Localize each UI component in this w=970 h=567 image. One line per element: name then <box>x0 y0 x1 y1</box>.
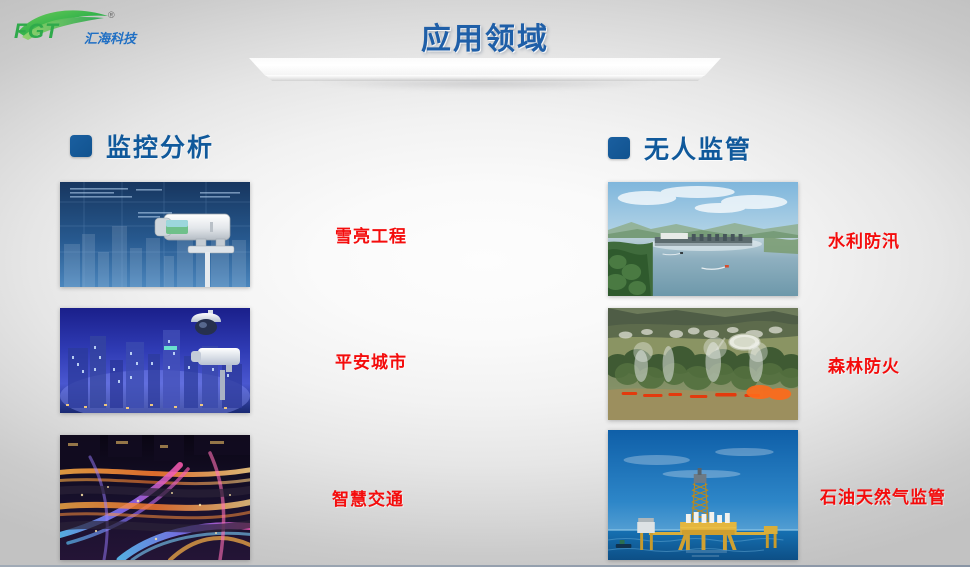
shelf-top-surface <box>249 58 721 76</box>
section-heading-monitoring-analysis: 监控分析 <box>70 128 214 164</box>
presentation-slide: FGT ® 汇海科技 应用领域 监控分析 无人监管 <box>0 0 970 567</box>
section-heading-label: 无人监管 <box>644 130 752 166</box>
application-item: 智慧交通 <box>60 435 404 560</box>
application-item: 雪亮工程 <box>60 182 407 287</box>
river-dam-reservoir-image <box>608 182 798 296</box>
slide-title: 应用领域 <box>0 14 970 58</box>
application-item: 森林防火 <box>608 308 900 420</box>
title-shelf-decoration <box>249 58 721 92</box>
application-item: 平安城市 <box>60 308 407 413</box>
night-city-cameras-image <box>60 308 250 413</box>
section-heading-label: 监控分析 <box>106 128 214 164</box>
application-caption: 雪亮工程 <box>335 222 407 247</box>
application-caption: 智慧交通 <box>332 485 404 510</box>
section-heading-unmanned-supervision: 无人监管 <box>608 130 752 166</box>
surveillance-camera-city-image <box>60 182 250 287</box>
offshore-oil-platform-image <box>608 430 798 560</box>
application-caption: 森林防火 <box>828 352 900 377</box>
square-bullet-icon <box>608 137 630 159</box>
forest-fire-smoke-image <box>608 308 798 420</box>
application-caption: 石油天然气监管 <box>820 483 946 508</box>
square-bullet-icon <box>70 135 92 157</box>
shelf-drop-shadow <box>282 81 688 95</box>
application-caption: 水利防汛 <box>828 227 900 252</box>
highway-interchange-night-image <box>60 435 250 560</box>
application-item: 水利防汛 <box>608 182 900 296</box>
application-caption: 平安城市 <box>335 348 407 373</box>
application-item: 石油天然气监管 <box>608 430 946 560</box>
